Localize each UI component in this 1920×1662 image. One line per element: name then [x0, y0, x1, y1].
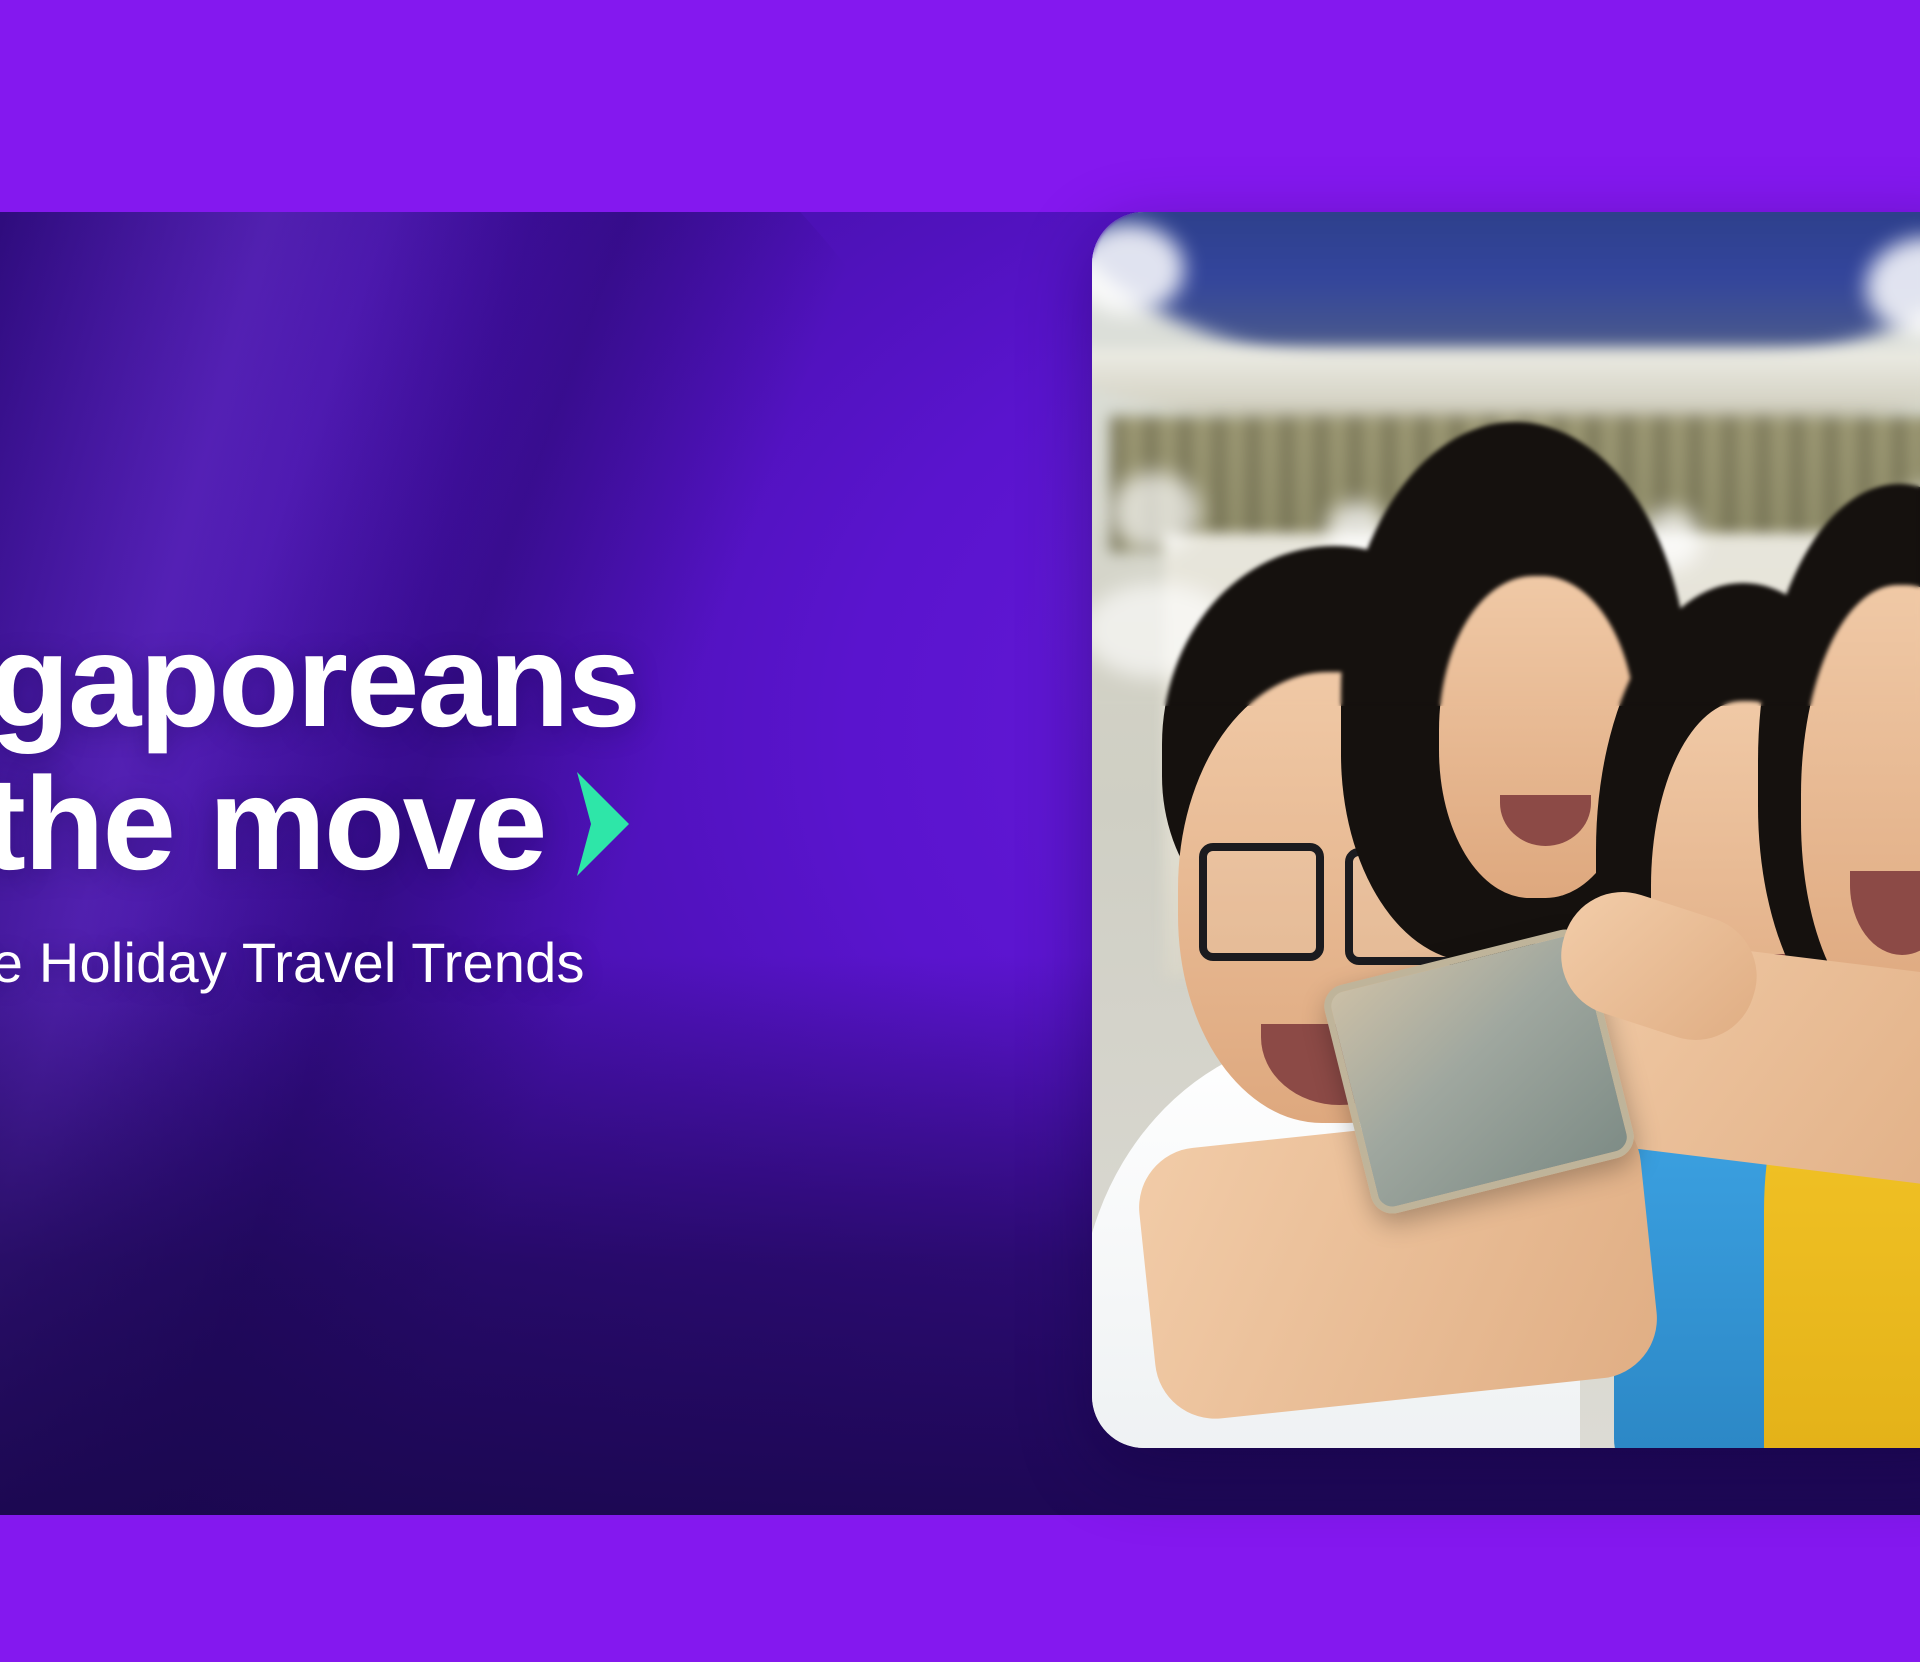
family-selfie-photo — [1092, 212, 1920, 1448]
page-subtitle: Trip June Holiday Travel Trends — [0, 929, 1030, 996]
banner-stage: Singaporeans on the move Trip June Holid… — [0, 0, 1920, 1662]
hero-copy: Singaporeans on the move Trip June Holid… — [0, 610, 1030, 996]
headline-line-2-row: on the move — [0, 753, 1030, 896]
headline-line-1: Singaporeans — [0, 610, 1030, 753]
hero-photo-card — [1092, 212, 1920, 1448]
frame-band-bottom — [0, 1515, 1920, 1662]
frame-band-top — [0, 0, 1920, 212]
headline-line-2: on the move — [0, 753, 545, 896]
photo-depth-blur — [1092, 212, 1920, 706]
chevron-right-icon — [571, 768, 633, 880]
page-title: Singaporeans on the move — [0, 610, 1030, 895]
father-glasses — [1199, 843, 1324, 960]
